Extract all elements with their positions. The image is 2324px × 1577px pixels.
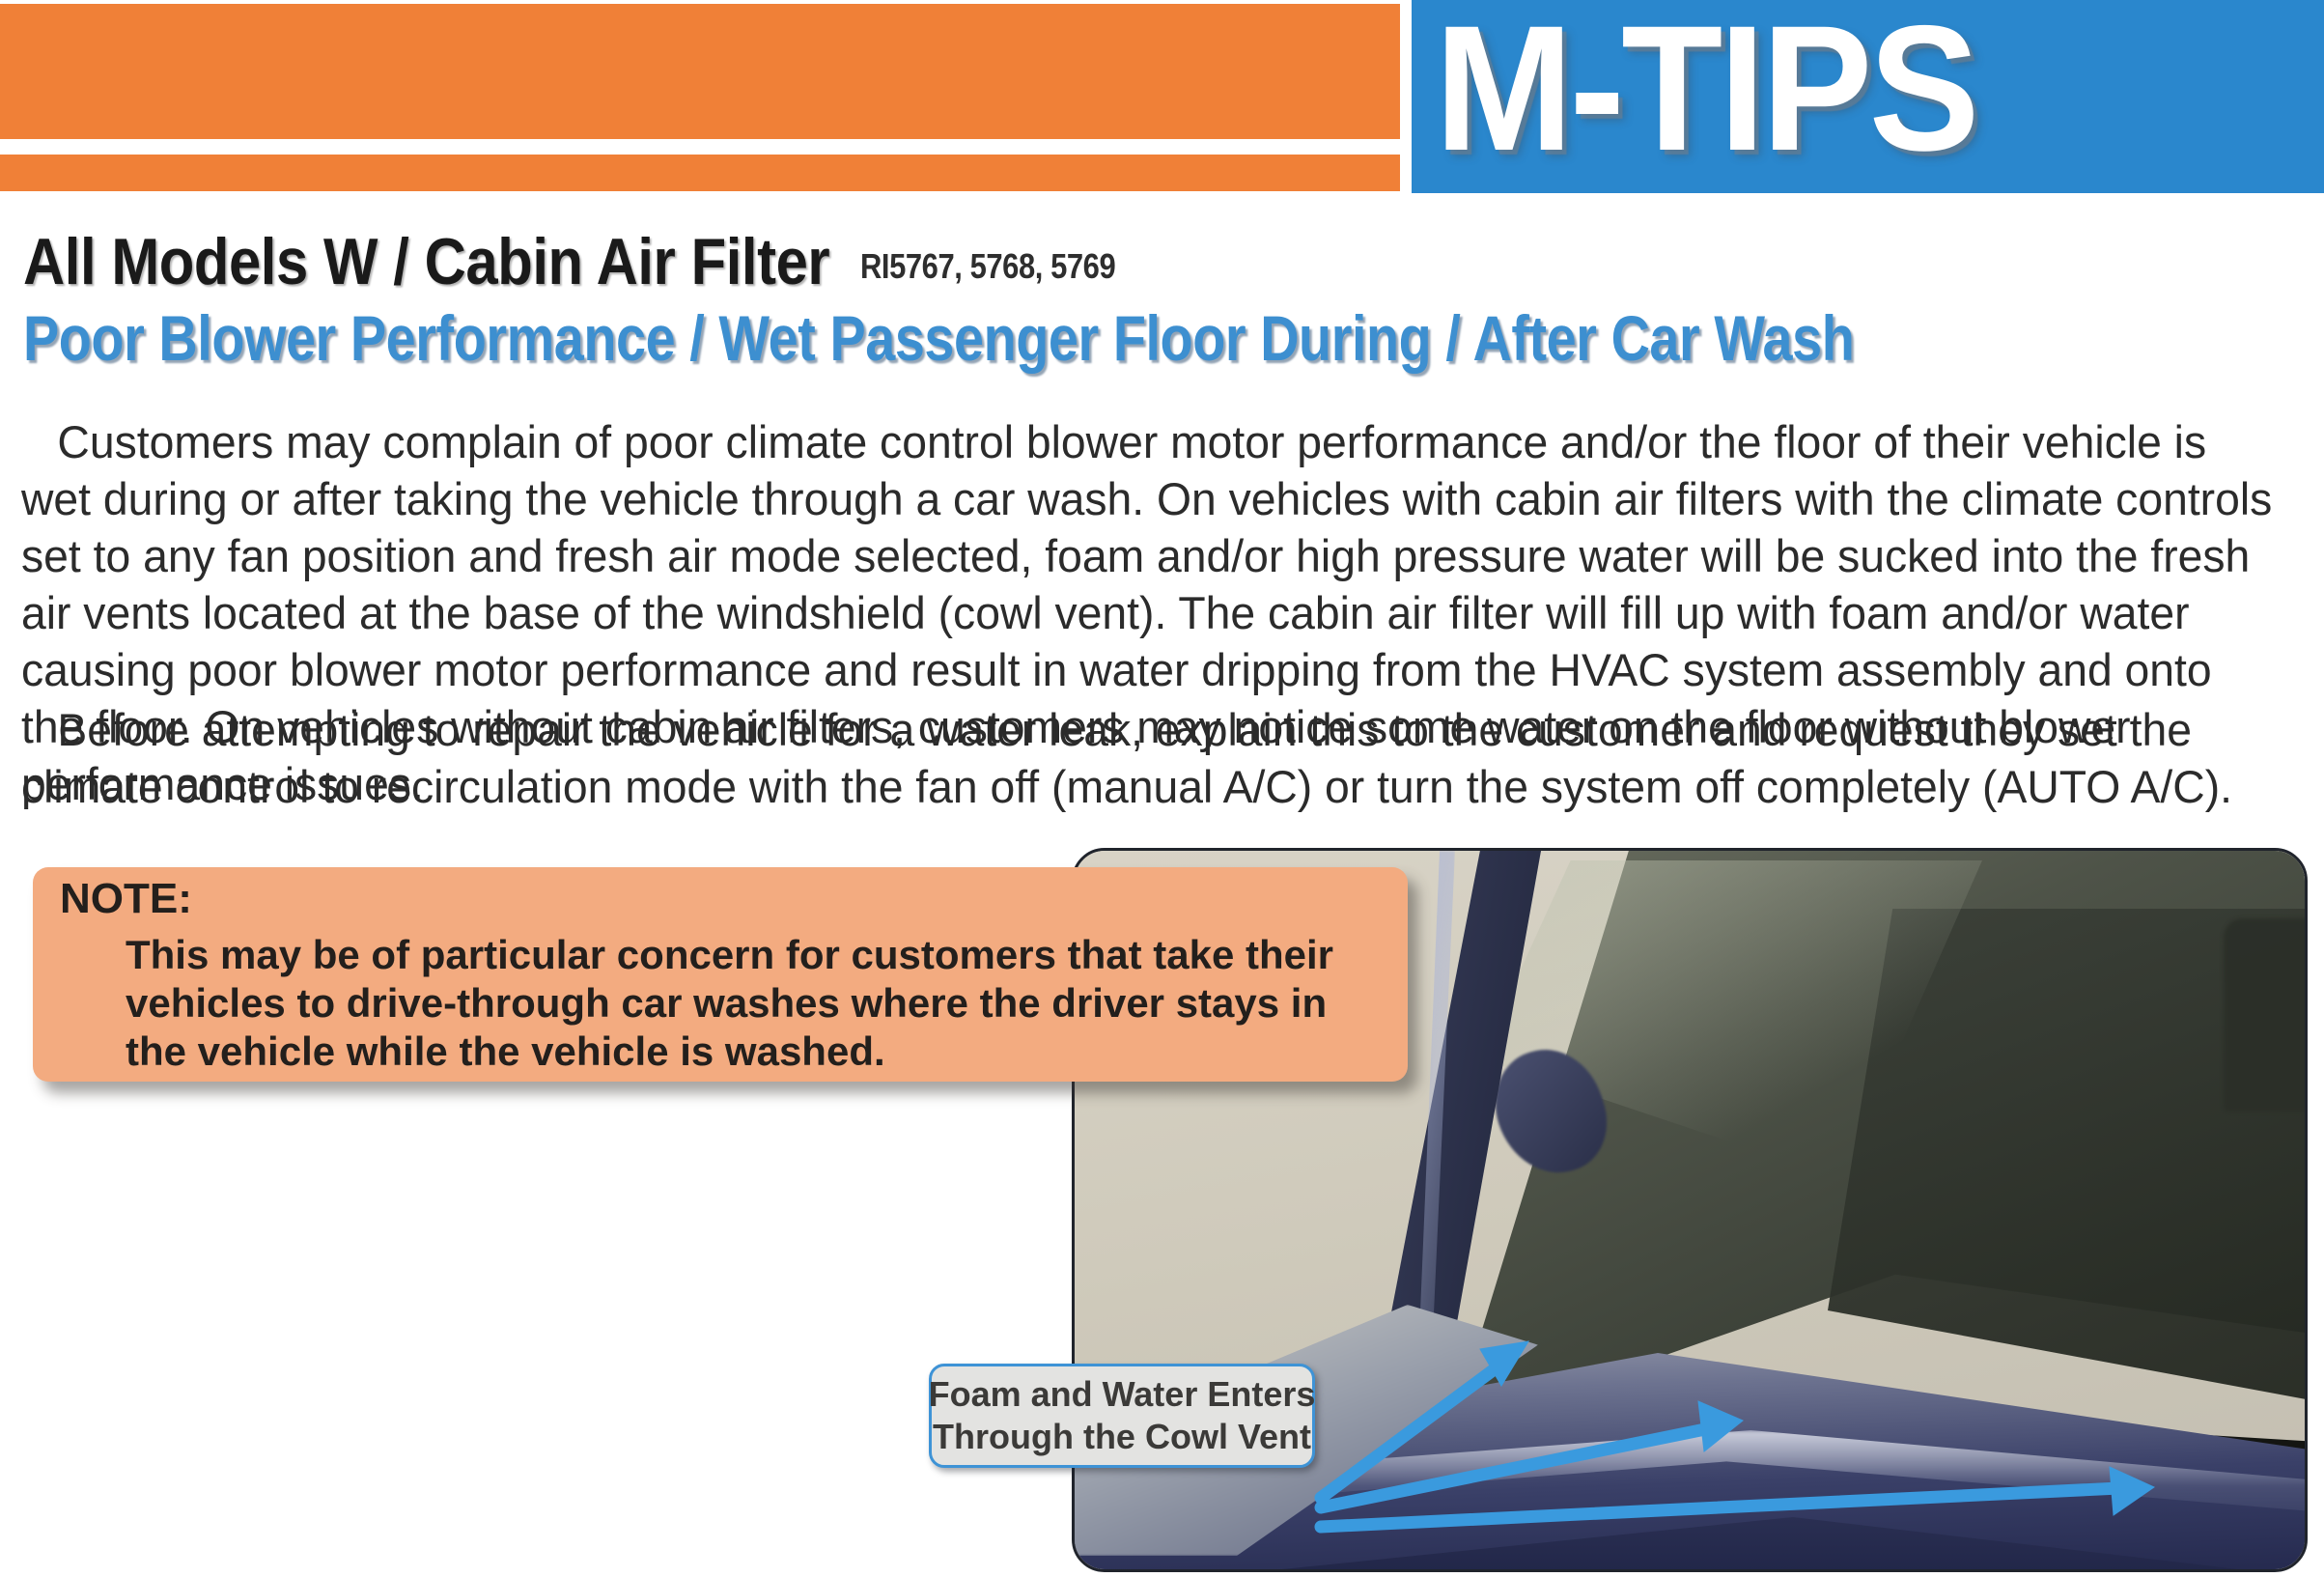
article-subtitle: Poor Blower Performance / Wet Passenger … — [23, 301, 1854, 375]
paragraph-2-text: Before attempting to repair the vehicle … — [21, 704, 2232, 812]
article-reference-numbers: RI5767, 5768, 5769 — [860, 246, 1115, 287]
note-callout-box: NOTE: This may be of particular concern … — [33, 867, 1408, 1082]
page-header: MARCH/APRIL 08 M-TIPS — [0, 0, 2324, 198]
photo-headrest — [2224, 918, 2308, 1112]
header-orange-strip — [0, 155, 1400, 191]
photo-callout-line-2: Through the Cowl Vent — [933, 1416, 1311, 1458]
photo-callout-line-1: Foam and Water Enters — [929, 1373, 1316, 1416]
body-paragraph-2: Before attempting to repair the vehicle … — [21, 701, 2275, 815]
header-orange-band — [0, 4, 1400, 139]
mtips-logo-text: M-TIPS — [1435, 0, 1976, 185]
note-text: This may be of particular concern for cu… — [126, 931, 1390, 1076]
article-title: All Models W / Cabin Air Filter — [23, 224, 829, 299]
note-label: NOTE: — [60, 875, 192, 923]
photo-callout-label: Foam and Water Enters Through the Cowl V… — [929, 1364, 1315, 1468]
mtips-logo-box: M-TIPS — [1412, 0, 2324, 193]
article-title-row: All Models W / Cabin Air FilterRI5767, 5… — [23, 224, 1157, 299]
